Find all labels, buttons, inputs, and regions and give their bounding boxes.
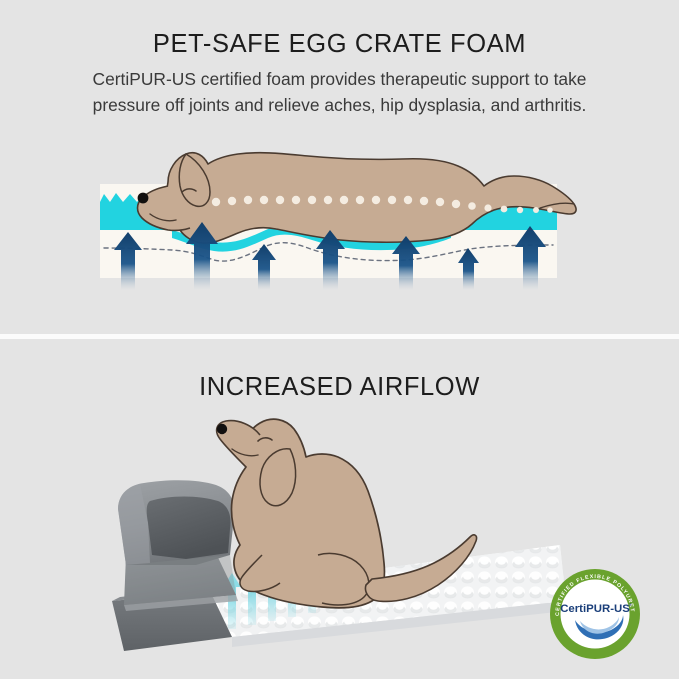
- product-infographic: PET-SAFE EGG CRATE FOAM CertiPUR-US cert…: [0, 0, 679, 679]
- panel-pet-safe-egg-crate-foam: PET-SAFE EGG CRATE FOAM CertiPUR-US cert…: [0, 0, 679, 335]
- panel-top-body-line-2: pressure off joints and relieve aches, h…: [18, 92, 661, 118]
- dog-illustration-bottom: [217, 419, 477, 608]
- dog-nose: [138, 193, 149, 204]
- panel-top-body-copy: CertiPUR-US certified foam provides ther…: [18, 66, 661, 118]
- badge-trademark-symbol: ®: [629, 602, 632, 607]
- dog-nose-bottom: [217, 424, 227, 434]
- foam-cross-section-illustration: [0, 130, 679, 330]
- badge-brand-text: CertiPUR-US: [560, 603, 630, 615]
- bolster-bed: [112, 480, 238, 651]
- certipur-us-badge: CONTAINS CERTIFIED FLEXIBLE POLYURETHANE…: [549, 568, 641, 660]
- panel-top-body-line-1: CertiPUR-US certified foam provides ther…: [18, 66, 661, 92]
- page-title-top: PET-SAFE EGG CRATE FOAM: [0, 30, 679, 59]
- bed-bolster-inner-face: [147, 497, 231, 560]
- page-title-bottom: INCREASED AIRFLOW: [0, 373, 679, 402]
